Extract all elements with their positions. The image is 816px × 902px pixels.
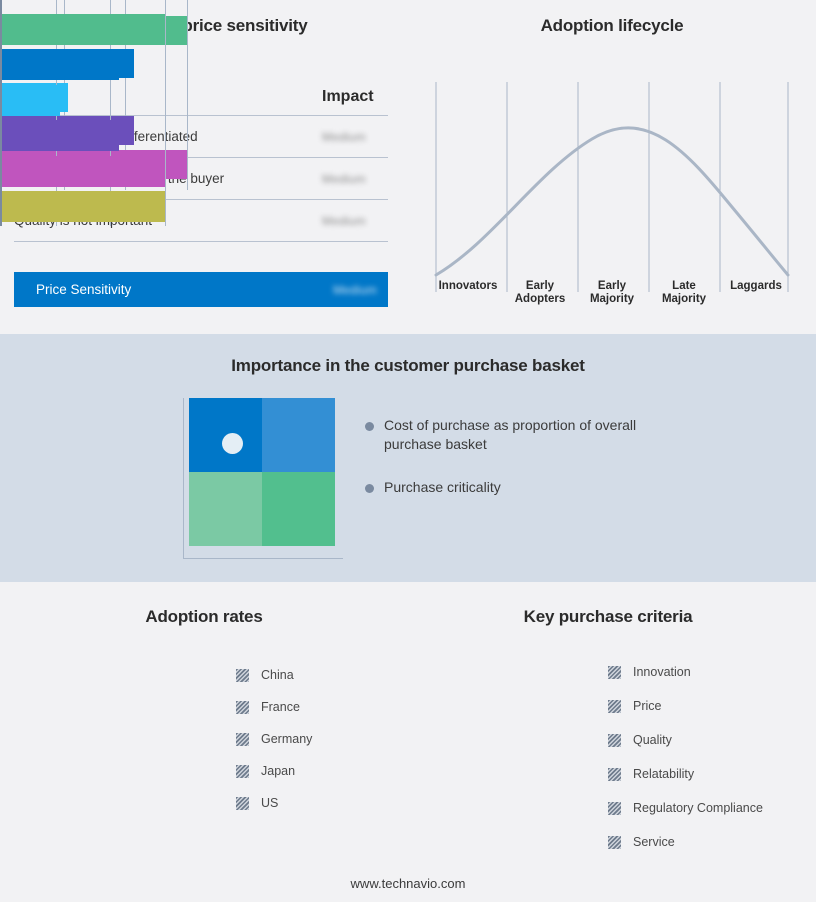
lifecycle-title: Adoption lifecycle: [408, 16, 816, 36]
legend-label: Cost of purchase as proportion of overal…: [384, 416, 655, 454]
column-header-impact: Impact: [322, 88, 388, 106]
bar-series: [2, 12, 165, 225]
legend-item-innovation: Innovation: [608, 655, 763, 689]
legend-label: France: [261, 700, 300, 714]
legend-label: China: [261, 668, 294, 682]
legend-label: Purchase criticality: [384, 478, 501, 497]
purchase-basket-panel: Importance in the customer purchase bask…: [0, 334, 816, 582]
bar-row: [2, 14, 165, 48]
impact-value: Medium: [322, 172, 388, 186]
legend-item-germany: Germany: [236, 723, 312, 755]
quadrant-bottom-right: [262, 472, 335, 546]
legend-label: Regulatory Compliance: [633, 801, 763, 815]
adoption-rates-title: Adoption rates: [0, 607, 408, 627]
legend-item-service: Service: [608, 825, 763, 859]
legend-swatch-icon: [608, 666, 621, 679]
adoption-rates-panel: Adoption rates: [0, 582, 408, 902]
legend-item-regulatory-compliance: Regulatory Compliance: [608, 791, 763, 825]
position-marker-dot: [222, 433, 243, 454]
legend-swatch-icon: [608, 836, 621, 849]
key-purchase-criteria-legend: InnovationPriceQualityRelatabilityRegula…: [608, 655, 763, 859]
legend-swatch-icon: [608, 734, 621, 747]
impact-value: Medium: [322, 130, 388, 144]
price-sensitivity-label: Price Sensitivity: [36, 282, 131, 297]
key-purchase-criteria-title: Key purchase criteria: [400, 607, 816, 627]
legend-label: US: [261, 796, 278, 810]
legend-swatch-icon: [236, 765, 249, 778]
legend-item-japan: Japan: [236, 755, 312, 787]
legend-label: Japan: [261, 764, 295, 778]
legend-label: Relatability: [633, 767, 694, 781]
legend-swatch-icon: [608, 802, 621, 815]
legend-swatch-icon: [236, 669, 249, 682]
quadrant-top-right: [262, 398, 335, 472]
bar-regulatory-compliance: [2, 156, 165, 187]
price-sensitivity-summary-row: Price Sensitivity Medium: [14, 272, 388, 307]
legend-swatch-icon: [608, 768, 621, 781]
lifecycle-bell-curve: [436, 128, 788, 275]
chart-gridline: [187, 0, 188, 190]
legend-swatch-icon: [608, 700, 621, 713]
bar-plot-area: [0, 0, 181, 226]
lifecycle-stage-early-majority: EarlyMajority: [576, 280, 648, 306]
list-item: Cost of purchase as proportion of overal…: [365, 416, 655, 454]
lifecycle-chart: Innovators EarlyAdopters EarlyMajority L…: [432, 82, 792, 308]
legend-label: Innovation: [633, 665, 691, 679]
lifecycle-curve-svg: [432, 82, 792, 308]
bar-price: [2, 49, 119, 80]
key-purchase-criteria-chart: [0, 0, 181, 226]
legend-item-quality: Quality: [608, 723, 763, 757]
legend-label: Price: [633, 699, 661, 713]
legend-item-relatability: Relatability: [608, 757, 763, 791]
legend-swatch-icon: [236, 701, 249, 714]
legend-label: Service: [633, 835, 675, 849]
bar-row: [2, 85, 165, 119]
legend-swatch-icon: [236, 797, 249, 810]
quadrant-bottom-left: [189, 472, 262, 546]
bullet-icon: [365, 484, 374, 493]
bar-row: [2, 49, 165, 83]
list-item: Purchase criticality: [365, 478, 655, 497]
legend-item-price: Price: [608, 689, 763, 723]
bar-quality: [2, 85, 60, 116]
legend-swatch-icon: [236, 733, 249, 746]
purchase-basket-title: Importance in the customer purchase bask…: [0, 356, 816, 376]
matrix-y-axis: [183, 398, 184, 558]
bar-row: [2, 191, 165, 225]
bar-service: [2, 191, 165, 222]
legend-item-france: France: [236, 691, 312, 723]
bar-relatability: [2, 120, 119, 151]
legend-item-us: US: [236, 787, 312, 819]
lifecycle-stage-late-majority: LateMajority: [648, 280, 720, 306]
purchase-basket-legend: Cost of purchase as proportion of overal…: [365, 416, 655, 521]
bar-row: [2, 120, 165, 154]
price-sensitivity-impact: Medium: [333, 283, 377, 297]
lifecycle-stage-innovators: Innovators: [432, 280, 504, 306]
bar-innovation: [2, 14, 165, 45]
footer-url: www.technavio.com: [0, 876, 816, 891]
lifecycle-panel: Adoption lifecycle Innovators EarlyAdopt…: [408, 0, 816, 334]
chart-gridline: [165, 0, 166, 226]
lifecycle-stage-labels: Innovators EarlyAdopters EarlyMajority L…: [432, 280, 792, 306]
lifecycle-stage-early-adopters: EarlyAdopters: [504, 280, 576, 306]
impact-value: Medium: [322, 214, 388, 228]
legend-item-china: China: [236, 659, 312, 691]
bullet-icon: [365, 422, 374, 431]
matrix-x-axis: [183, 558, 343, 559]
legend-label: Quality: [633, 733, 672, 747]
lifecycle-stage-laggards: Laggards: [720, 280, 792, 306]
adoption-rates-legend: ChinaFranceGermanyJapanUS: [236, 659, 312, 819]
legend-label: Germany: [261, 732, 312, 746]
bar-row: [2, 156, 165, 190]
quadrant-grid: [189, 398, 335, 546]
lifecycle-gridlines: [436, 82, 788, 292]
